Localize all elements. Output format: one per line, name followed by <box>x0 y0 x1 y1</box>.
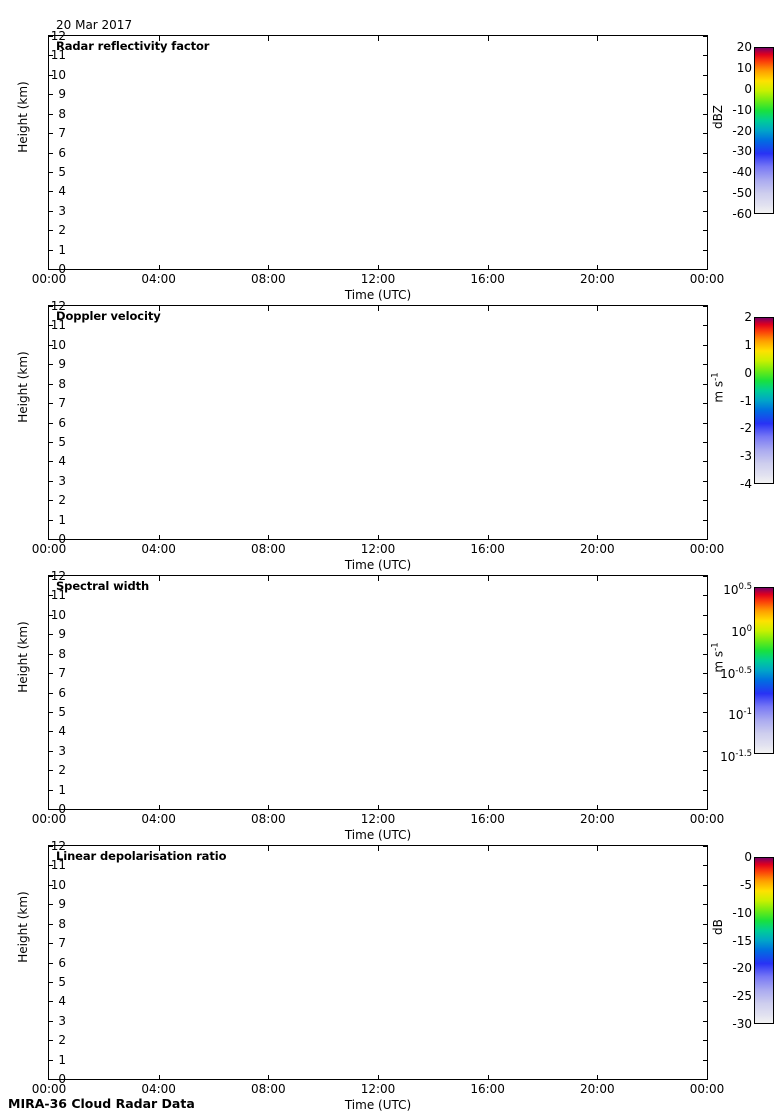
y-tick-label: 6 <box>26 148 66 158</box>
colorbar-unit-label: m s-1 <box>711 628 726 688</box>
y-tick-mark-right <box>703 442 708 443</box>
y-tick-mark-right <box>703 36 708 37</box>
y-tick-mark <box>48 924 53 925</box>
x-tick-mark-top <box>378 576 379 581</box>
colorbar-unit-label: dBZ <box>711 87 725 147</box>
y-tick-label: 2 <box>26 495 66 505</box>
y-tick-mark-right <box>703 790 708 791</box>
y-tick-label: 3 <box>26 1016 66 1026</box>
y-tick-mark <box>48 133 53 134</box>
x-tick-mark <box>378 265 379 270</box>
y-tick-mark <box>48 963 53 964</box>
colorbar-tick-label: -40 <box>732 167 752 177</box>
y-tick-mark <box>48 191 53 192</box>
y-tick-mark <box>48 982 53 983</box>
y-tick-label: 1 <box>26 785 66 795</box>
y-tick-label: 7 <box>26 938 66 948</box>
y-tick-mark <box>48 595 53 596</box>
y-tick-mark-right <box>703 364 708 365</box>
x-tick-mark <box>488 805 489 810</box>
x-tick-mark-top <box>488 306 489 311</box>
x-tick-mark <box>597 265 598 270</box>
y-tick-mark-right <box>703 731 708 732</box>
y-tick-mark <box>48 364 53 365</box>
y-tick-mark-right <box>703 520 708 521</box>
y-axis-label: Height (km) <box>16 72 30 162</box>
colorbar-tick-label: 10-1 <box>728 707 752 720</box>
y-tick-mark-right <box>703 94 708 95</box>
y-tick-mark-right <box>703 211 708 212</box>
y-tick-mark <box>48 1001 53 1002</box>
colorbar-linear-depolarisation-ratio: 0-5-10-15-20-25-30 <box>754 857 774 1024</box>
colorbar-unit-label: m s-1 <box>711 358 726 418</box>
y-tick-mark-right <box>703 423 708 424</box>
y-tick-mark-right <box>703 345 708 346</box>
y-tick-label: 4 <box>26 996 66 1006</box>
colorbar-gradient <box>754 47 774 214</box>
x-tick-mark-top <box>268 576 269 581</box>
y-tick-mark <box>48 345 53 346</box>
y-tick-mark-right <box>703 55 708 56</box>
y-tick-mark <box>48 403 53 404</box>
x-tick-mark <box>268 805 269 810</box>
y-tick-mark <box>48 75 53 76</box>
x-tick-mark <box>597 1075 598 1080</box>
y-tick-label: 9 <box>26 629 66 639</box>
y-tick-label: 9 <box>26 89 66 99</box>
colorbar-tick-label: 0 <box>744 368 752 378</box>
x-tick-mark-top <box>597 36 598 41</box>
y-tick-mark-right <box>703 1040 708 1041</box>
x-tick-mark-top <box>159 576 160 581</box>
y-tick-mark <box>48 94 53 95</box>
panel-radar-reflectivity-factor: 20 Mar 2017Radar reflectivity factor1211… <box>0 10 780 280</box>
y-tick-mark-right <box>703 885 708 886</box>
y-tick-mark-right <box>703 114 708 115</box>
y-tick-mark <box>48 790 53 791</box>
y-tick-mark <box>48 461 53 462</box>
y-tick-mark-right <box>703 943 708 944</box>
x-tick-mark <box>488 1075 489 1080</box>
x-tick-mark <box>378 1075 379 1080</box>
x-tick-label: 12:00 <box>361 1083 396 1095</box>
y-tick-label: 11 <box>26 860 66 870</box>
colorbar-tick-label: -25 <box>732 991 752 1001</box>
y-tick-mark <box>48 615 53 616</box>
x-tick-mark-top <box>159 846 160 851</box>
y-tick-mark <box>48 654 53 655</box>
x-tick-mark-top <box>488 576 489 581</box>
x-tick-label: 00:00 <box>32 1083 67 1095</box>
x-tick-mark-top <box>268 846 269 851</box>
y-tick-label: 6 <box>26 418 66 428</box>
x-tick-mark <box>268 1075 269 1080</box>
y-tick-mark-right <box>703 133 708 134</box>
y-tick-mark <box>48 230 53 231</box>
x-tick-mark-top <box>159 306 160 311</box>
date-label: 20 Mar 2017 <box>56 18 132 32</box>
x-tick-mark <box>378 805 379 810</box>
x-tick-label: 08:00 <box>251 1083 286 1095</box>
y-tick-mark-right <box>703 712 708 713</box>
y-tick-mark <box>48 731 53 732</box>
y-tick-label: 9 <box>26 359 66 369</box>
y-tick-label: 4 <box>26 726 66 736</box>
y-tick-label: 9 <box>26 899 66 909</box>
x-tick-mark-top <box>159 36 160 41</box>
y-axis-label: Height (km) <box>16 882 30 972</box>
y-tick-label: 1 <box>26 245 66 255</box>
y-tick-label: 7 <box>26 128 66 138</box>
y-tick-label: 10 <box>26 340 66 350</box>
x-tick-mark-top <box>597 576 598 581</box>
y-tick-mark <box>48 539 53 540</box>
colorbar-tick-label: 20 <box>737 42 752 52</box>
y-tick-mark-right <box>703 904 708 905</box>
x-tick-mark <box>159 265 160 270</box>
colorbar-radar-reflectivity-factor: 20100-10-20-30-40-50-60 <box>754 47 774 214</box>
y-tick-mark <box>48 153 53 154</box>
y-tick-label: 12 <box>26 841 66 851</box>
y-tick-mark <box>48 1060 53 1061</box>
y-tick-mark-right <box>703 230 708 231</box>
y-tick-label: 11 <box>26 50 66 60</box>
x-tick-mark <box>159 535 160 540</box>
x-tick-label: 16:00 <box>470 1083 505 1095</box>
colorbar-tick-label: 100 <box>731 624 752 637</box>
y-tick-mark <box>48 384 53 385</box>
y-tick-mark <box>48 325 53 326</box>
y-tick-mark-right <box>703 576 708 577</box>
y-tick-mark-right <box>703 306 708 307</box>
y-tick-label: 3 <box>26 476 66 486</box>
y-tick-label: 4 <box>26 186 66 196</box>
y-tick-mark-right <box>703 461 708 462</box>
colorbar-unit-label: dB <box>711 897 725 957</box>
colorbar-tick-label: -10 <box>732 105 752 115</box>
y-tick-mark <box>48 1040 53 1041</box>
y-tick-mark-right <box>703 481 708 482</box>
x-tick-mark-top <box>378 306 379 311</box>
colorbar-tick-label: -30 <box>732 1019 752 1029</box>
y-tick-mark <box>48 770 53 771</box>
y-tick-label: 11 <box>26 320 66 330</box>
y-tick-mark-right <box>703 1060 708 1061</box>
panel-title-radar-reflectivity-factor: Radar reflectivity factor <box>56 39 209 53</box>
colorbar-gradient <box>754 317 774 484</box>
panel-linear-depolarisation-ratio: Linear depolarisation ratio1211109876543… <box>0 820 780 1090</box>
colorbar-tick-label: -50 <box>732 188 752 198</box>
y-tick-label: 6 <box>26 688 66 698</box>
x-tick-mark-top <box>268 306 269 311</box>
y-tick-mark-right <box>703 384 708 385</box>
y-tick-mark <box>48 36 53 37</box>
y-tick-mark-right <box>703 539 708 540</box>
panel-spectral-width: Spectral width121110987654321000:0004:00… <box>0 550 780 820</box>
y-tick-label: 12 <box>26 571 66 581</box>
x-tick-mark <box>488 265 489 270</box>
x-tick-mark-top <box>597 846 598 851</box>
y-tick-mark-right <box>703 693 708 694</box>
y-tick-mark <box>48 751 53 752</box>
y-tick-mark <box>48 693 53 694</box>
colorbar-tick-label: -60 <box>732 209 752 219</box>
y-tick-label: 8 <box>26 109 66 119</box>
x-tick-mark-top <box>378 36 379 41</box>
y-tick-label: 7 <box>26 398 66 408</box>
y-tick-label: 8 <box>26 919 66 929</box>
y-tick-label: 2 <box>26 225 66 235</box>
y-tick-label: 10 <box>26 610 66 620</box>
y-tick-mark-right <box>703 500 708 501</box>
x-tick-label: 20:00 <box>580 1083 615 1095</box>
y-tick-mark-right <box>703 982 708 983</box>
colorbar-tick-label: -1 <box>740 396 752 406</box>
y-tick-mark <box>48 904 53 905</box>
y-tick-label: 8 <box>26 379 66 389</box>
colorbar-tick-label: -15 <box>732 936 752 946</box>
y-tick-mark <box>48 211 53 212</box>
x-tick-label: 04:00 <box>141 1083 176 1095</box>
y-tick-mark-right <box>703 673 708 674</box>
y-tick-label: 11 <box>26 590 66 600</box>
y-tick-mark <box>48 634 53 635</box>
y-tick-mark <box>48 172 53 173</box>
y-tick-mark <box>48 306 53 307</box>
y-tick-mark-right <box>703 1079 708 1080</box>
panel-title-linear-depolarisation-ratio: Linear depolarisation ratio <box>56 849 226 863</box>
y-tick-label: 7 <box>26 668 66 678</box>
x-tick-mark <box>488 535 489 540</box>
y-tick-mark-right <box>703 1001 708 1002</box>
x-tick-mark <box>597 805 598 810</box>
colorbar-tick-label: 0 <box>744 84 752 94</box>
y-tick-mark-right <box>703 770 708 771</box>
y-tick-label: 3 <box>26 206 66 216</box>
x-tick-mark <box>268 535 269 540</box>
y-tick-label: 8 <box>26 649 66 659</box>
y-tick-mark <box>48 1079 53 1080</box>
panel-title-doppler-velocity: Doppler velocity <box>56 309 161 323</box>
y-tick-label: 5 <box>26 707 66 717</box>
y-tick-label: 6 <box>26 958 66 968</box>
y-tick-mark-right <box>703 846 708 847</box>
y-tick-mark <box>48 943 53 944</box>
y-tick-mark <box>48 55 53 56</box>
x-tick-mark-top <box>488 846 489 851</box>
x-tick-mark-top <box>268 36 269 41</box>
y-tick-mark <box>48 500 53 501</box>
y-axis-label: Height (km) <box>16 612 30 702</box>
y-tick-mark <box>48 673 53 674</box>
x-tick-mark <box>597 535 598 540</box>
y-tick-mark <box>48 423 53 424</box>
colorbar-tick-label: -20 <box>732 126 752 136</box>
y-tick-mark-right <box>703 269 708 270</box>
y-tick-mark <box>48 865 53 866</box>
colorbar-tick-label: -10 <box>732 908 752 918</box>
colorbar-tick-label: 10 <box>737 63 752 73</box>
colorbar-tick-label: -4 <box>740 479 752 489</box>
x-tick-mark-top <box>488 36 489 41</box>
x-tick-label: 00:00 <box>690 1083 725 1095</box>
y-tick-mark <box>48 481 53 482</box>
colorbar-gradient <box>754 857 774 1024</box>
colorbar-tick-label: 10-1.5 <box>720 749 752 762</box>
y-tick-label: 1 <box>26 515 66 525</box>
y-tick-mark <box>48 250 53 251</box>
y-tick-label: 2 <box>26 1035 66 1045</box>
y-tick-label: 3 <box>26 746 66 756</box>
colorbar-tick-label: 2 <box>744 312 752 322</box>
y-tick-mark <box>48 712 53 713</box>
y-tick-label: 12 <box>26 31 66 41</box>
y-tick-label: 4 <box>26 456 66 466</box>
colorbar-doppler-velocity: 210-1-2-3-4 <box>754 317 774 484</box>
y-tick-mark <box>48 1021 53 1022</box>
y-tick-label: 10 <box>26 880 66 890</box>
y-axis-label: Height (km) <box>16 342 30 432</box>
y-tick-mark-right <box>703 595 708 596</box>
y-tick-mark-right <box>703 865 708 866</box>
plot-frame <box>48 35 708 270</box>
y-tick-mark-right <box>703 172 708 173</box>
y-tick-mark <box>48 576 53 577</box>
colorbar-tick-label: 100.5 <box>723 582 752 595</box>
plot-frame <box>48 575 708 810</box>
y-tick-label: 2 <box>26 765 66 775</box>
y-tick-label: 5 <box>26 977 66 987</box>
y-tick-mark-right <box>703 751 708 752</box>
colorbar-tick-label: -20 <box>732 963 752 973</box>
y-tick-mark <box>48 520 53 521</box>
plot-frame <box>48 305 708 540</box>
x-tick-mark <box>268 265 269 270</box>
x-tick-mark-top <box>378 846 379 851</box>
colorbar-tick-label: -3 <box>740 451 752 461</box>
panel-doppler-velocity: Doppler velocity121110987654321000:0004:… <box>0 280 780 550</box>
y-tick-mark-right <box>703 1021 708 1022</box>
y-tick-mark <box>48 114 53 115</box>
y-tick-mark-right <box>703 325 708 326</box>
y-tick-mark-right <box>703 634 708 635</box>
y-tick-mark-right <box>703 403 708 404</box>
y-tick-mark-right <box>703 963 708 964</box>
y-tick-mark-right <box>703 153 708 154</box>
colorbar-tick-label: -2 <box>740 423 752 433</box>
y-tick-mark-right <box>703 809 708 810</box>
x-tick-mark-top <box>597 306 598 311</box>
x-tick-mark <box>159 1075 160 1080</box>
panel-title-spectral-width: Spectral width <box>56 579 149 593</box>
y-tick-mark-right <box>703 191 708 192</box>
y-tick-label: 5 <box>26 437 66 447</box>
figure-footer: MIRA-36 Cloud Radar Data <box>8 1096 195 1111</box>
colorbar-tick-label: 1 <box>744 340 752 350</box>
y-tick-mark-right <box>703 75 708 76</box>
colorbar-gradient <box>754 587 774 754</box>
y-tick-mark <box>48 885 53 886</box>
colorbar-tick-label: -5 <box>740 880 752 890</box>
colorbar-tick-label: -30 <box>732 146 752 156</box>
y-tick-mark-right <box>703 615 708 616</box>
y-tick-label: 10 <box>26 70 66 80</box>
y-tick-mark-right <box>703 654 708 655</box>
y-tick-label: 12 <box>26 301 66 311</box>
y-tick-label: 1 <box>26 1055 66 1065</box>
y-tick-mark <box>48 269 53 270</box>
x-tick-mark <box>159 805 160 810</box>
y-tick-mark <box>48 846 53 847</box>
colorbar-tick-label: 0 <box>744 852 752 862</box>
y-tick-mark <box>48 809 53 810</box>
plot-frame <box>48 845 708 1080</box>
y-tick-mark-right <box>703 924 708 925</box>
y-tick-mark-right <box>703 250 708 251</box>
y-tick-label: 5 <box>26 167 66 177</box>
colorbar-spectral-width: 100.510010-0.510-110-1.5 <box>754 587 774 754</box>
x-tick-mark <box>378 535 379 540</box>
y-tick-mark <box>48 442 53 443</box>
